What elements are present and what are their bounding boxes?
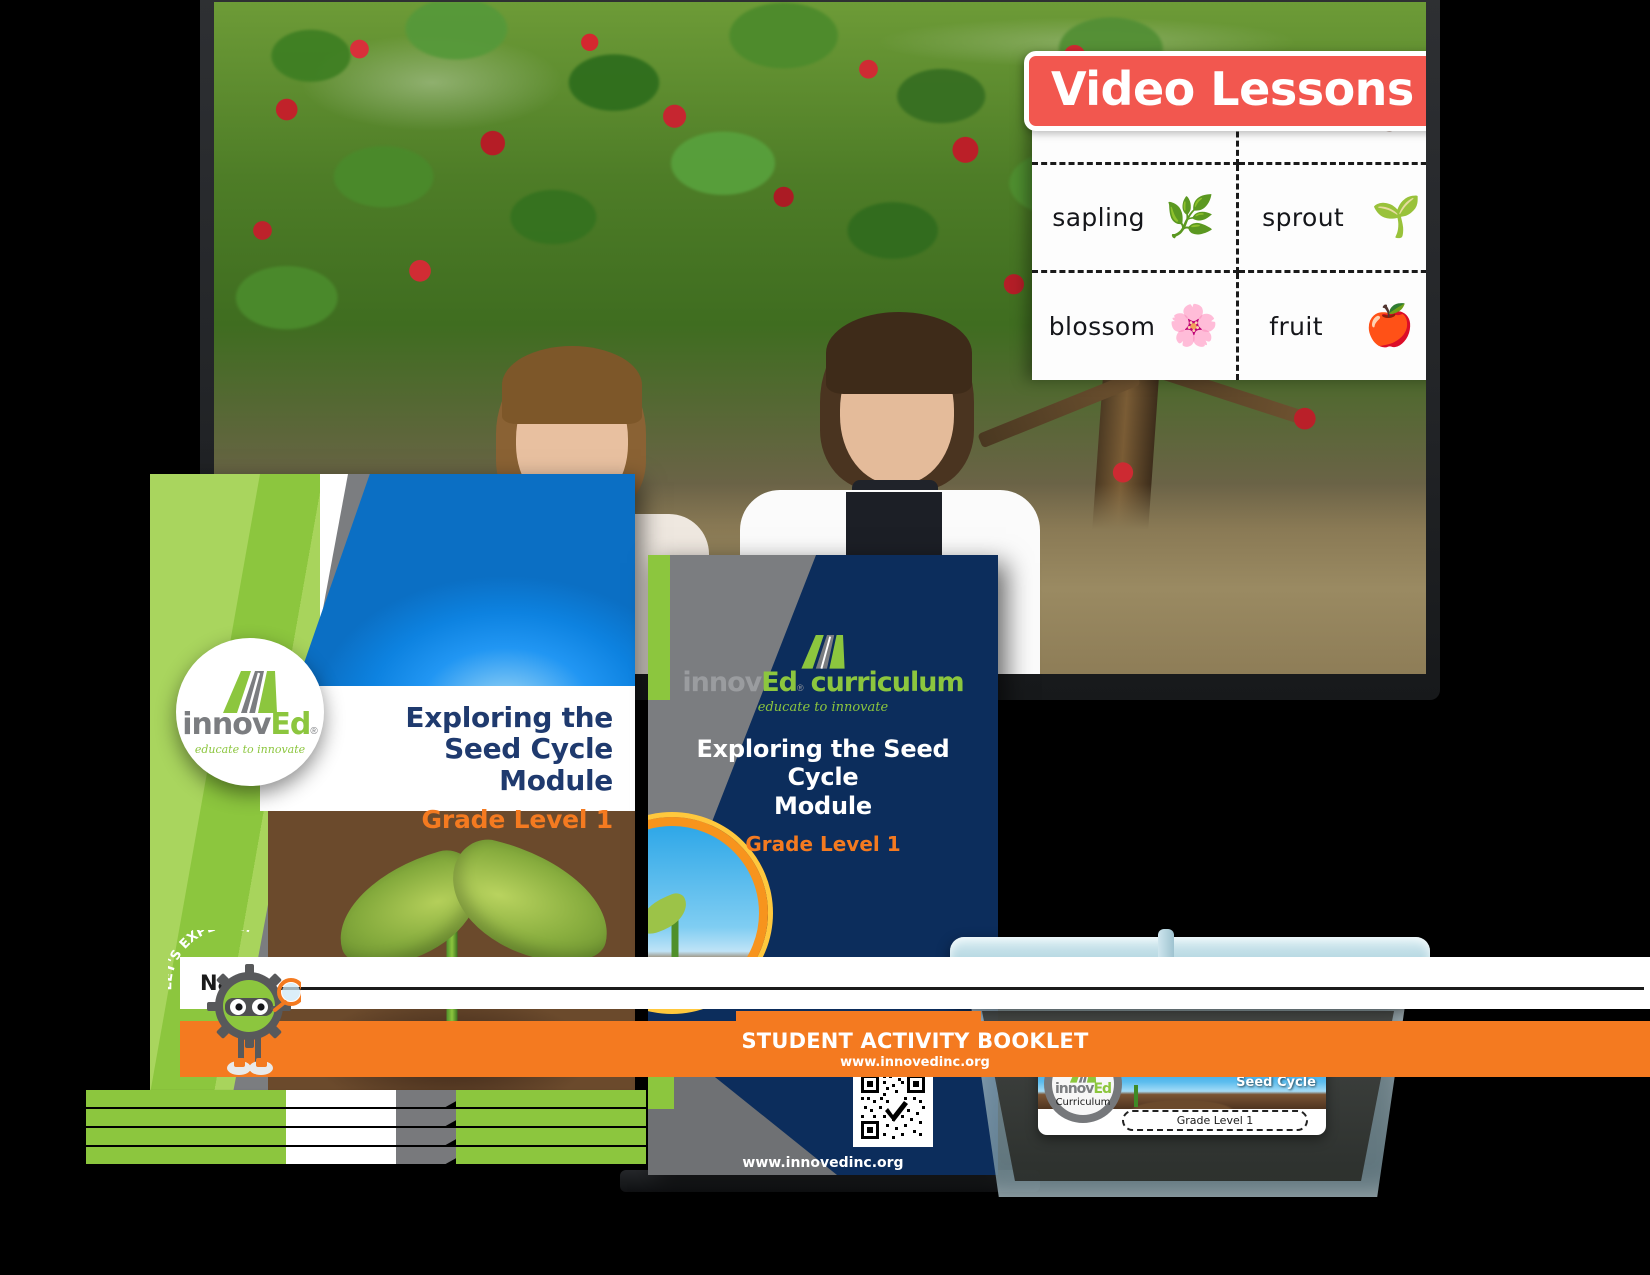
- handbook-logo-tagline: educate to innovate: [648, 700, 998, 715]
- video-lessons-badge: Video Lessons: [1024, 51, 1426, 131]
- handbook-logo-curriculum: curriculum: [811, 667, 964, 698]
- bin-label-sprout-icon: [1134, 1085, 1138, 1107]
- name-field-row[interactable]: Name: [180, 957, 1650, 1009]
- logo-text-innov: innov: [182, 707, 270, 742]
- handbook-logo-block: innovEd® curriculum educate to innovate: [648, 633, 998, 715]
- registered-trademark-icon: ®: [310, 726, 317, 737]
- grid-cell-sprout: sprout 🌱: [1239, 165, 1427, 272]
- handbook-title-line1: Exploring the Seed Cycle: [664, 735, 982, 792]
- bin-logo-curriculum: Curriculum: [1056, 1097, 1111, 1108]
- logo-text-ed: Ed: [270, 707, 310, 742]
- logo-tagline: educate to innovate: [195, 743, 305, 756]
- student-activity-banner: STUDENT ACTIVITY BOOKLET www.innovedinc.…: [180, 1021, 1650, 1077]
- sapling-icon: 🌿: [1165, 197, 1215, 237]
- sprout-icon: 🌱: [1372, 197, 1422, 237]
- innoved-logo-badge: innovEd® educate to innovate: [176, 638, 324, 786]
- stacked-booklet: [86, 1128, 646, 1145]
- grid-cell-blossom: blossom 🌸: [1032, 273, 1239, 380]
- registered-trademark-icon: ®: [797, 683, 804, 693]
- grid-cell-fruit: fruit 🍎: [1239, 273, 1427, 380]
- handbook-logo-ed: Ed: [761, 667, 797, 698]
- stacked-booklet: [86, 1147, 646, 1164]
- product-bundle-composite: seed 🌰 tree 🌳 sapling 🌿 sprout 🌱: [0, 0, 1650, 1275]
- sprout-leaf-right: [438, 832, 623, 973]
- fruit-icon: 🍎: [1364, 306, 1414, 346]
- stacked-booklet: [86, 1109, 646, 1126]
- name-write-line[interactable]: [280, 987, 1644, 990]
- bin-logo-innov: innov: [1055, 1081, 1093, 1097]
- stacked-booklet: [86, 1090, 646, 1107]
- bin-label-grade-level: Grade Level 1: [1122, 1110, 1308, 1131]
- grid-cell-sapling: sapling 🌿: [1032, 165, 1239, 272]
- student-activity-banner-label: STUDENT ACTIVITY BOOKLET: [741, 1029, 1088, 1053]
- handbook-title-block: Exploring the Seed Cycle Module Grade Le…: [664, 735, 982, 856]
- blossom-icon: 🌸: [1169, 306, 1219, 346]
- student-activity-banner-url: www.innovedinc.org: [840, 1055, 990, 1070]
- bin-logo-ed: Ed: [1093, 1081, 1111, 1097]
- grid-word-sapling: sapling: [1052, 203, 1145, 232]
- qr-code-icon[interactable]: [853, 1067, 933, 1147]
- handbook-grade-level: Grade Level 1: [664, 832, 982, 856]
- grid-word-fruit: fruit: [1269, 312, 1323, 341]
- booklet-stack: [86, 1090, 646, 1170]
- gear-mascot-with-magnifier-icon: [205, 962, 301, 1078]
- handbook-logo-innov: innov: [682, 667, 761, 698]
- grid-word-sprout: sprout: [1262, 203, 1344, 232]
- grid-word-blossom: blossom: [1049, 312, 1156, 341]
- handbook-url: www.innovedinc.org: [648, 1155, 998, 1171]
- handbook-title-line2: Module: [664, 792, 982, 820]
- innoved-road-icon: [795, 633, 851, 669]
